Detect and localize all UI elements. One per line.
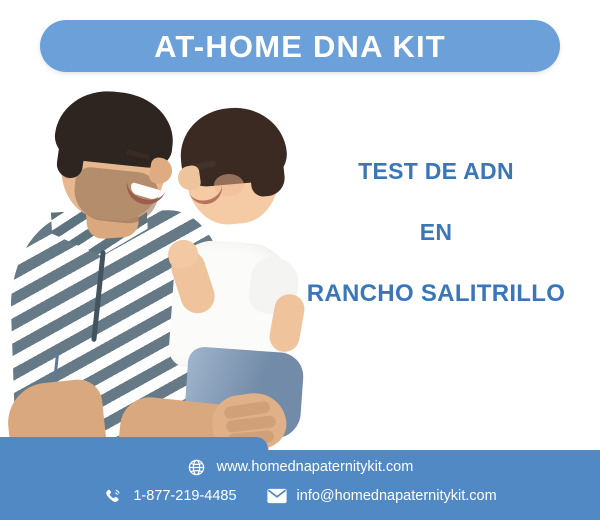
header-banner: AT-HOME DNA KIT <box>40 20 560 72</box>
page-title: AT-HOME DNA KIT <box>154 31 446 62</box>
envelope-icon <box>267 486 287 506</box>
globe-icon <box>187 457 207 477</box>
footer-website-item[interactable]: www.homednapaternitykit.com <box>187 457 414 477</box>
footer-phone-item[interactable]: 1-877-219-4485 <box>103 486 236 506</box>
headline-line-2: EN <box>286 221 586 244</box>
headline-line-3: RANCHO SALITRILLO <box>286 282 586 306</box>
family-photo <box>0 82 310 450</box>
footer-contact-row: 1-877-219-4485 info@homednapaternitykit.… <box>0 486 600 506</box>
father-nose <box>148 156 174 185</box>
poster-canvas: AT-HOME DNA KIT <box>0 0 600 520</box>
footer-phone-text: 1-877-219-4485 <box>133 489 236 504</box>
headline-line-1: TEST DE ADN <box>286 160 586 183</box>
footer-email-text: info@homednapaternitykit.com <box>297 489 497 504</box>
photo-scene <box>0 82 310 450</box>
footer-website-row: www.homednapaternitykit.com <box>0 457 600 477</box>
headline-block: TEST DE ADN EN RANCHO SALITRILLO <box>286 160 586 306</box>
phone-icon <box>103 486 123 506</box>
footer-website-text: www.homednapaternitykit.com <box>217 460 414 475</box>
footer-email-item[interactable]: info@homednapaternitykit.com <box>267 486 497 506</box>
